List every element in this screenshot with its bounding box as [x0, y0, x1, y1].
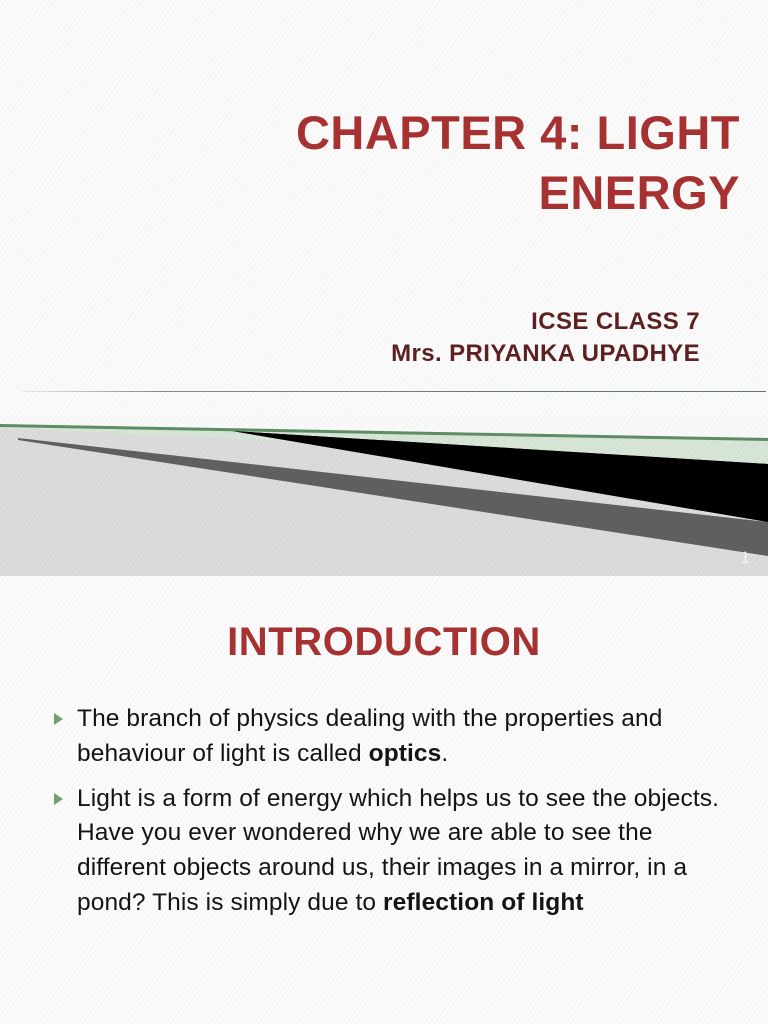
bullet-list: The branch of physics dealing with the p… — [52, 702, 742, 931]
list-item: Light is a form of energy which helps us… — [52, 782, 742, 921]
content-slide: INTRODUCTION The branch of physics deali… — [0, 576, 768, 1024]
presenter-label: Mrs. PRIYANKA UPADHYE — [80, 338, 700, 370]
deck-title-line-2: ENERGY — [180, 163, 740, 223]
title-block: CHAPTER 4: LIGHT ENERGY — [180, 103, 740, 223]
title-slide: CHAPTER 4: LIGHT ENERGY ICSE CLASS 7 Mrs… — [0, 0, 768, 576]
triangle-bullet-icon — [54, 793, 63, 805]
list-item-text: Light is a form of energy which helps us… — [77, 785, 719, 916]
list-item-text: The branch of physics dealing with the p… — [77, 705, 662, 767]
accent-divider-line — [22, 391, 766, 392]
page-title: INTRODUCTION — [0, 620, 768, 665]
banner-graphic — [0, 418, 768, 576]
course-label: ICSE CLASS 7 — [80, 306, 700, 338]
decorative-banner — [0, 418, 768, 576]
page-number: 1 — [741, 548, 750, 568]
list-item: The branch of physics dealing with the p… — [52, 702, 742, 772]
triangle-bullet-icon — [54, 713, 63, 725]
subtitle-block: ICSE CLASS 7 Mrs. PRIYANKA UPADHYE — [80, 306, 700, 369]
deck-title-line-1: CHAPTER 4: LIGHT — [180, 103, 740, 163]
